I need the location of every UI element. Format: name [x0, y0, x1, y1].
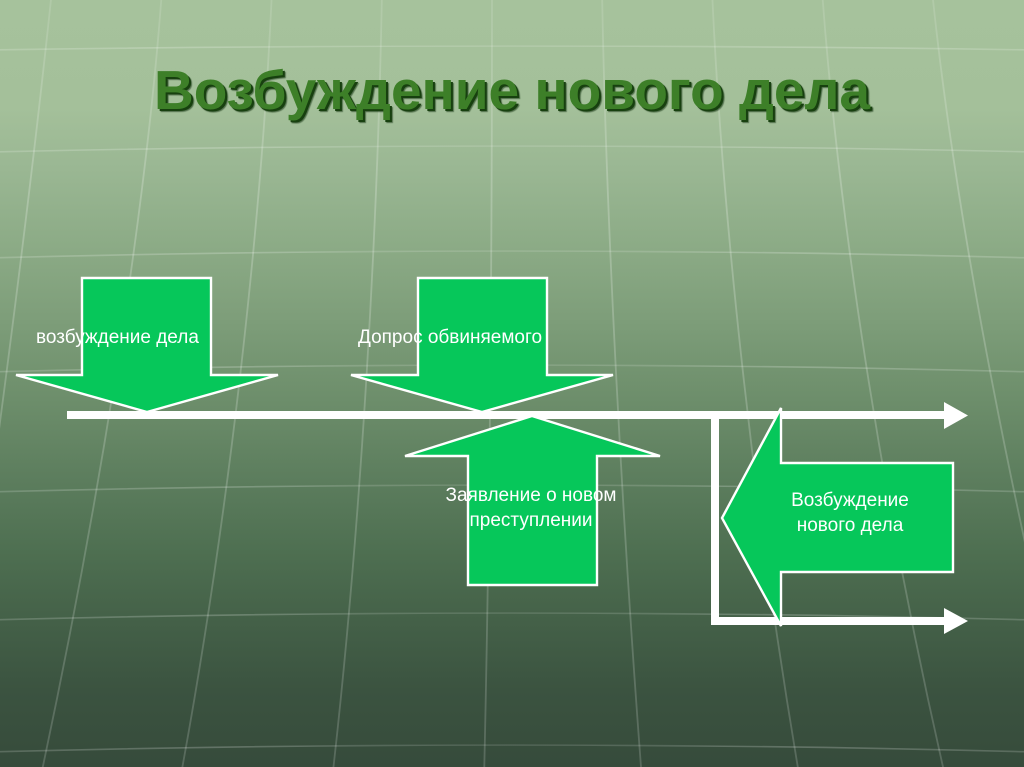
label-vozbuzhdenie-novogo-dela: Возбуждение нового дела — [745, 488, 955, 538]
label-dopros-obvinyaemogo: Допрос обвиняемого — [358, 325, 542, 350]
label-novoe-delo-line1: Возбуждение — [791, 490, 909, 511]
label-zayavlenie-o-novom-prestuplenii: Заявление о новом преступлении — [386, 483, 676, 533]
slide-canvas: Возбуждение нового дела возбуждение дела… — [0, 0, 1024, 767]
label-vozbuzhdenie-dela: возбуждение дела — [36, 325, 199, 350]
process-diagram — [0, 0, 1024, 767]
label-zayavlenie-line2: преступлении — [470, 510, 593, 531]
label-zayavlenie-line1: Заявление о новом — [445, 485, 616, 506]
label-novoe-delo-line2: нового дела — [797, 515, 904, 536]
